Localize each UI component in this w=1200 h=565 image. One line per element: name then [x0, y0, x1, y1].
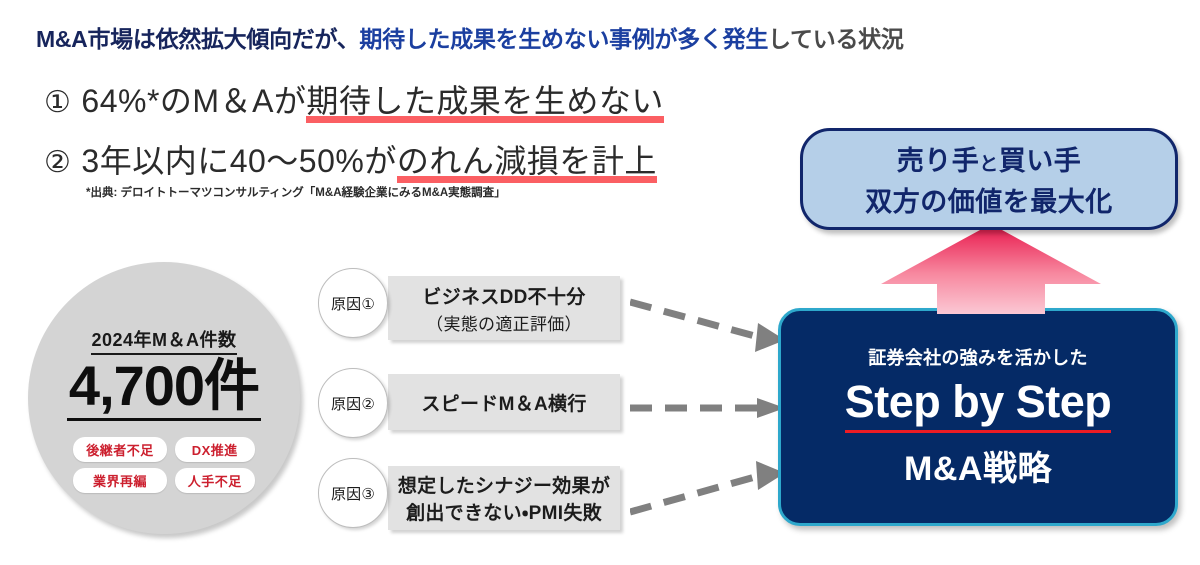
cause-3-subtitle: 創出できない・PMI失敗 — [406, 498, 602, 525]
key-point-1-marker: ① — [44, 86, 71, 119]
key-point-2-highlight: のれん減損を計上 — [397, 136, 657, 183]
cause-row-2: スピードM＆A横行 原因② — [318, 368, 658, 440]
arrow-up-icon — [880, 222, 1102, 314]
cause-2-title: スピードM＆A横行 — [421, 389, 586, 416]
driver-tag: 人手不足 — [175, 468, 255, 493]
strategy-pre-text: 証券会社の強みを活かした — [868, 344, 1088, 370]
driver-tag-group: 後継者不足 DX推進 業界再編 人手不足 — [73, 437, 255, 493]
connector-line-1 — [630, 302, 762, 338]
cause-1-subtitle: （実態の適正評価） — [426, 310, 582, 335]
value-conjunction: と — [979, 154, 999, 175]
cause-1-title: ビジネスDD不十分 — [422, 282, 585, 309]
strategy-main-text: Step by Step — [845, 376, 1112, 433]
value-buyer: 買い手 — [999, 146, 1082, 176]
stat-value: 4,700件 — [67, 357, 261, 421]
headline-segment-2: 期待した成果を生めない事例が多く発生 — [359, 26, 768, 52]
page-title: M&A市場は依然拡大傾向だが、期待した成果を生めない事例が多く発生している状況 — [36, 20, 904, 54]
strategy-box: 証券会社の強みを活かした Step by Step M&A戦略 — [778, 308, 1178, 526]
driver-tag: DX推進 — [175, 437, 255, 462]
driver-tag: 業界再編 — [73, 468, 167, 493]
key-point-2-marker: ② — [44, 146, 71, 179]
cause-3-badge: 原因③ — [318, 458, 388, 528]
strategy-sub-text: M&A戦略 — [904, 441, 1052, 490]
cause-3-title: 想定したシナジー効果が — [398, 471, 610, 498]
value-proposition-box: 売り手と買い手 双方の価値を最大化 — [800, 128, 1178, 230]
cause-2-badge: 原因② — [318, 368, 388, 438]
cause-box-3: 想定したシナジー効果が 創出できない・PMI失敗 — [388, 466, 620, 530]
source-footnote: *出典: デロイトトーマツコンサルティング「M&A経験企業にみるM&A実態調査」 — [86, 184, 506, 200]
cause-row-3: 想定したシナジー効果が 創出できない・PMI失敗 原因③ — [318, 458, 658, 538]
connector-line-3 — [630, 475, 762, 512]
value-line-1: 売り手と買い手 — [897, 139, 1082, 178]
slide-canvas: M&A市場は依然拡大傾向だが、期待した成果を生めない事例が多く発生している状況 … — [0, 0, 1200, 565]
driver-tag: 後継者不足 — [73, 437, 167, 462]
ma-deal-count-circle: 2024年M＆A件数 4,700件 後継者不足 DX推進 業界再編 人手不足 — [28, 262, 300, 534]
cause-row-1: ビジネスDD不十分 （実態の適正評価） 原因① — [318, 268, 658, 348]
key-point-2-plain: 3年以内に40〜50%が — [81, 143, 396, 179]
key-point-1-highlight: 期待した成果を生めない — [306, 76, 664, 123]
value-seller: 売り手 — [897, 146, 980, 176]
stat-label: 2024年M＆A件数 — [91, 326, 236, 355]
headline-segment-3: している状況 — [768, 26, 904, 52]
cause-box-1: ビジネスDD不十分 （実態の適正評価） — [388, 276, 620, 340]
headline-segment-1: M&A市場は依然拡大傾向だが、 — [36, 26, 359, 52]
key-point-2: ②3年以内に40〜50%がのれん減損を計上 — [44, 136, 657, 183]
cause-1-badge: 原因① — [318, 268, 388, 338]
cause-box-2: スピードM＆A横行 — [388, 374, 620, 430]
key-point-1: ①64%*のM＆Aが期待した成果を生めない — [44, 76, 664, 123]
key-point-1-plain: 64%*のM＆Aが — [81, 83, 306, 119]
value-line-2: 双方の価値を最大化 — [865, 180, 1113, 219]
